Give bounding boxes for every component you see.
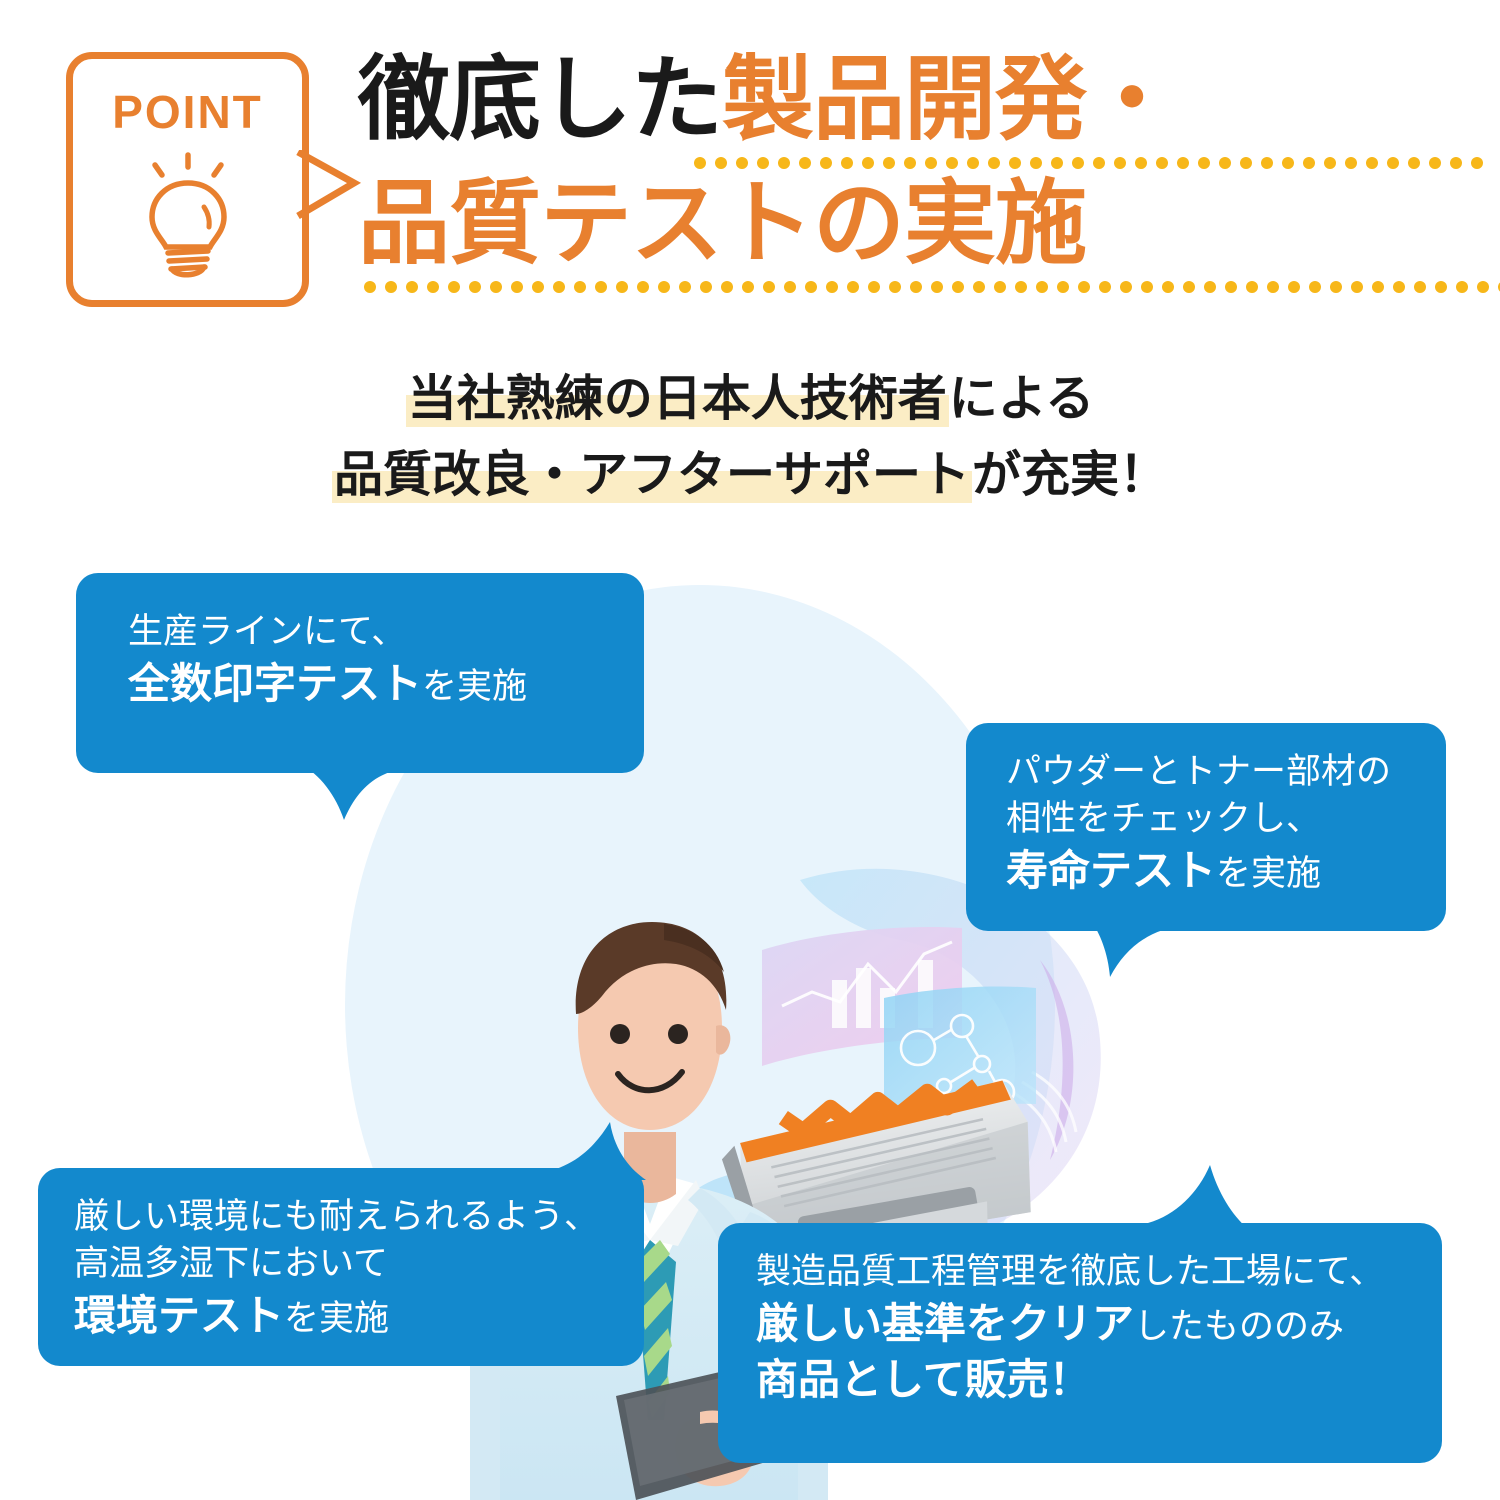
underline-dot bbox=[742, 281, 754, 293]
underline-dot bbox=[1204, 281, 1216, 293]
underline-dot bbox=[511, 281, 523, 293]
point-badge-label: POINT bbox=[112, 85, 263, 139]
underline-dot bbox=[994, 281, 1006, 293]
subtitle-line-2: 品質改良・アフターサポートが充実！ bbox=[0, 444, 1500, 507]
underline-dot bbox=[1477, 281, 1489, 293]
underline-dot bbox=[1225, 281, 1237, 293]
bubble-factory-standard: 製造品質工程管理を徹底した工場にて、 厳しい基準をクリアしたもののみ 商品として… bbox=[718, 1223, 1442, 1463]
underline-dot bbox=[820, 157, 832, 169]
underline-dot bbox=[925, 157, 937, 169]
underline-dot bbox=[721, 281, 733, 293]
underline-dot bbox=[1324, 157, 1336, 169]
underline-dot bbox=[1198, 157, 1210, 169]
bubble-lifetime-test: パウダーとトナー部材の 相性をチェックし、 寿命テストを実施 bbox=[966, 723, 1446, 931]
bubble-environment-test-line-3: 環境テストを実施 bbox=[74, 1288, 644, 1344]
subtitle-line-1-tail: による bbox=[949, 370, 1095, 427]
underline-dot bbox=[1036, 281, 1048, 293]
bubble-environment-test-line-2: 高温多湿下において bbox=[74, 1241, 644, 1288]
underline-dot bbox=[1372, 281, 1384, 293]
underline-dot bbox=[364, 281, 376, 293]
bubble-factory-standard-line-2-bold: 厳しい基準をクリア bbox=[756, 1299, 1134, 1348]
underline-dot bbox=[1162, 281, 1174, 293]
bubble-environment-test-line-1: 厳しい環境にも耐えられるよう、 bbox=[74, 1194, 644, 1241]
underline-dot bbox=[736, 157, 748, 169]
underline-dot bbox=[1156, 157, 1168, 169]
underline-dot bbox=[973, 281, 985, 293]
underline-dot bbox=[931, 281, 943, 293]
underline-dot bbox=[967, 157, 979, 169]
page-subtitle: 当社熟練の日本人技術者による 品質改良・アフターサポートが充実！ bbox=[0, 368, 1500, 506]
bubble-environment-test-line-3-suffix: を実施 bbox=[284, 1299, 389, 1339]
underline-dot bbox=[616, 281, 628, 293]
underline-dot bbox=[1261, 157, 1273, 169]
subtitle-line-2-highlight: 品質改良・アフターサポート bbox=[332, 446, 972, 503]
bubble-lifetime-test-line-2: 相性をチェックし、 bbox=[1006, 796, 1446, 843]
underline-dot bbox=[1099, 281, 1111, 293]
bubble-lifetime-test-line-3-bold: 寿命テスト bbox=[1006, 846, 1216, 895]
underline-dot bbox=[427, 281, 439, 293]
bubble-lifetime-test-line-3-suffix: を実施 bbox=[1216, 854, 1321, 894]
underline-dot bbox=[469, 281, 481, 293]
underline-dot bbox=[1282, 157, 1294, 169]
headline-line-1-orange: 製品開発・ bbox=[722, 46, 1177, 153]
underline-dot bbox=[946, 157, 958, 169]
bubble-lifetime-test-line-1: パウダーとトナー部材の bbox=[1006, 749, 1446, 796]
bubble-print-test-line-2-bold: 全数印字テスト bbox=[128, 659, 422, 708]
underline-dot bbox=[988, 157, 1000, 169]
headline-line-2: 品質テストの実施 bbox=[358, 172, 1358, 275]
underline-dot bbox=[1051, 157, 1063, 169]
underline-dot bbox=[826, 281, 838, 293]
underline-dot bbox=[868, 281, 880, 293]
underline-dot bbox=[1246, 281, 1258, 293]
bubble-environment-test: 厳しい環境にも耐えられるよう、 高温多湿下において 環境テストを実施 bbox=[38, 1168, 644, 1366]
underline-dot bbox=[1183, 281, 1195, 293]
underline-dot bbox=[910, 281, 922, 293]
bubble-print-test: 生産ラインにて、 全数印字テストを実施 bbox=[76, 573, 644, 773]
underline-dot bbox=[1015, 281, 1027, 293]
underline-dot bbox=[1057, 281, 1069, 293]
underline-dot bbox=[1429, 157, 1441, 169]
bubble-tail-factory-standard bbox=[1148, 1165, 1248, 1231]
lightbulb-icon bbox=[128, 147, 248, 292]
bubble-environment-test-line-3-bold: 環境テスト bbox=[74, 1291, 284, 1340]
bubble-print-test-line-2-suffix: を実施 bbox=[422, 667, 527, 707]
underline-dot bbox=[847, 281, 859, 293]
underline-dot bbox=[883, 157, 895, 169]
underline-dot bbox=[679, 281, 691, 293]
underline-dot bbox=[1141, 281, 1153, 293]
underline-dot bbox=[778, 157, 790, 169]
bubble-print-test-line-2: 全数印字テストを実施 bbox=[128, 656, 644, 712]
underline-dot bbox=[757, 157, 769, 169]
underline-dot bbox=[385, 281, 397, 293]
headline-line-1-black: 徹底した bbox=[358, 46, 722, 153]
underline-dot bbox=[700, 281, 712, 293]
underline-dot bbox=[1078, 281, 1090, 293]
underline-dot bbox=[1114, 157, 1126, 169]
bubble-factory-standard-line-1: 製造品質工程管理を徹底した工場にて、 bbox=[756, 1249, 1442, 1296]
underline-dot bbox=[406, 281, 418, 293]
underline-dot bbox=[694, 157, 706, 169]
underline-dot bbox=[637, 281, 649, 293]
underline-dot bbox=[784, 281, 796, 293]
point-badge: POINT bbox=[66, 52, 309, 307]
bubble-factory-standard-line-3: 商品として販売！ bbox=[756, 1352, 1442, 1408]
underline-dot bbox=[490, 281, 502, 293]
underline-dot bbox=[553, 281, 565, 293]
underline-dot bbox=[1009, 157, 1021, 169]
underline-dot bbox=[1093, 157, 1105, 169]
underline-dot bbox=[1471, 157, 1483, 169]
underline-dot bbox=[1414, 281, 1426, 293]
underline-dot bbox=[952, 281, 964, 293]
headline-dotted-underline-2 bbox=[364, 278, 1358, 296]
underline-dot bbox=[1351, 281, 1363, 293]
underline-dot bbox=[1303, 157, 1315, 169]
underline-dot bbox=[1309, 281, 1321, 293]
underline-dot bbox=[1450, 157, 1462, 169]
underline-dot bbox=[1267, 281, 1279, 293]
underline-dot bbox=[799, 157, 811, 169]
underline-dot bbox=[1288, 281, 1300, 293]
underline-dot bbox=[1120, 281, 1132, 293]
subtitle-line-1: 当社熟練の日本人技術者による bbox=[0, 368, 1500, 431]
underline-dot bbox=[889, 281, 901, 293]
underline-dot bbox=[1135, 157, 1147, 169]
underline-dot bbox=[1240, 157, 1252, 169]
bubble-lifetime-test-line-3: 寿命テストを実施 bbox=[1006, 843, 1446, 899]
underline-dot bbox=[841, 157, 853, 169]
underline-dot bbox=[904, 157, 916, 169]
bubble-factory-standard-line-2-suffix: したもののみ bbox=[1134, 1307, 1344, 1347]
underline-dot bbox=[532, 281, 544, 293]
point-badge-tail-icon bbox=[296, 150, 362, 220]
page-headline: 徹底した製品開発・ 品質テストの実施 bbox=[358, 48, 1358, 296]
underline-dot bbox=[1393, 281, 1405, 293]
underline-dot bbox=[1030, 157, 1042, 169]
headline-line-1: 徹底した製品開発・ bbox=[358, 48, 1358, 151]
bubble-print-test-line-1: 生産ラインにて、 bbox=[128, 609, 644, 656]
underline-dot bbox=[1366, 157, 1378, 169]
underline-dot bbox=[1456, 281, 1468, 293]
underline-dot bbox=[1177, 157, 1189, 169]
underline-dot bbox=[1345, 157, 1357, 169]
subtitle-line-1-highlight: 当社熟練の日本人技術者 bbox=[406, 370, 949, 427]
underline-dot bbox=[1435, 281, 1447, 293]
underline-dot bbox=[805, 281, 817, 293]
underline-dot bbox=[1387, 157, 1399, 169]
underline-dot bbox=[658, 281, 670, 293]
underline-dot bbox=[1072, 157, 1084, 169]
subtitle-line-2-tail: が充実！ bbox=[972, 446, 1168, 503]
underline-dot bbox=[448, 281, 460, 293]
bubble-factory-standard-line-2: 厳しい基準をクリアしたもののみ bbox=[756, 1296, 1442, 1352]
underline-dot bbox=[1408, 157, 1420, 169]
underline-dot bbox=[715, 157, 727, 169]
underline-dot bbox=[595, 281, 607, 293]
underline-dot bbox=[862, 157, 874, 169]
underline-dot bbox=[763, 281, 775, 293]
underline-dot bbox=[574, 281, 586, 293]
underline-dot bbox=[1330, 281, 1342, 293]
underline-dot bbox=[1219, 157, 1231, 169]
